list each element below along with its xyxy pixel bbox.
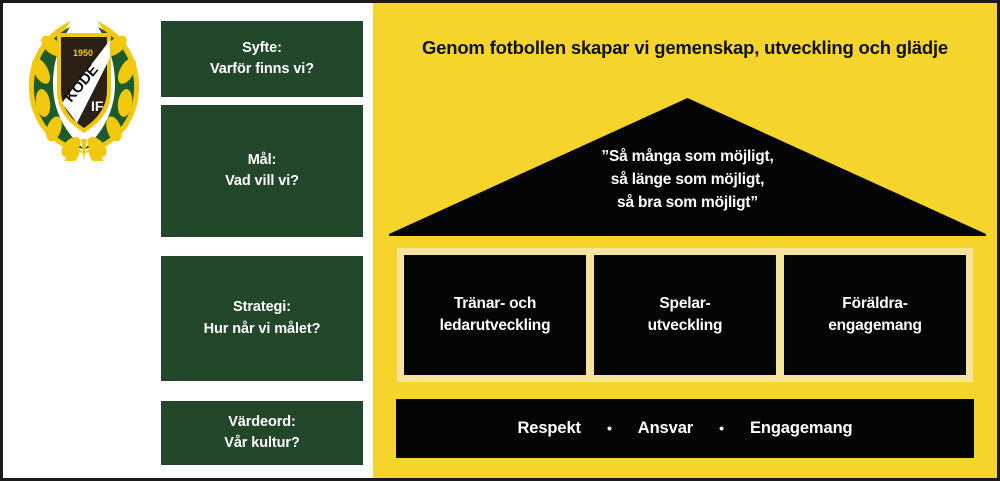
question-card-mal: Mål: Vad vill vi? — [161, 105, 363, 237]
question-card-title: Värdeord: — [228, 412, 296, 433]
question-card-title: Syfte: — [242, 38, 282, 59]
value-separator-dot-icon: • — [607, 421, 612, 435]
left-question-panel: 1950 KODE IF Syfte: Varför finns vi? Mål… — [3, 3, 373, 478]
question-card-question: Vad vill vi? — [225, 171, 299, 192]
roof-vision-text: ”Så många som möjligt, så länge som möjl… — [389, 146, 986, 215]
logo-suffix-text: IF — [91, 98, 104, 114]
house-of-values-slide: 1950 KODE IF Syfte: Varför finns vi? Mål… — [0, 0, 1000, 481]
value-ansvar: Ansvar — [638, 419, 693, 438]
house-panel: Genom fotbollen skapar vi gemenskap, utv… — [373, 3, 997, 478]
kode-if-logo: 1950 KODE IF — [19, 11, 149, 161]
roof-line-3: så bra som möjligt” — [389, 192, 986, 215]
question-card-syfte: Syfte: Varför finns vi? — [161, 21, 363, 97]
question-card-title: Mål: — [248, 150, 277, 171]
value-engagemang: Engagemang — [750, 419, 853, 438]
pillar-line-1: Spelar- — [659, 293, 710, 315]
pillar-spelarutveckling: Spelar- utveckling — [594, 255, 776, 375]
pillar-line-2: utveckling — [648, 315, 723, 337]
question-card-question: Hur når vi målet? — [204, 319, 321, 340]
question-card-strategi: Strategi: Hur når vi målet? — [161, 256, 363, 381]
question-card-vardeord: Värdeord: Vår kultur? — [161, 401, 363, 465]
foundation-values-bar: Respekt • Ansvar • Engagemang — [396, 399, 974, 458]
pillar-line-1: Tränar- och — [454, 293, 536, 315]
pillar-tranar-och-ledarutveckling: Tränar- och ledarutveckling — [404, 255, 586, 375]
question-card-question: Vår kultur? — [224, 433, 299, 454]
headline-text: Genom fotbollen skapar vi gemenskap, utv… — [373, 37, 997, 59]
pillar-line-2: ledarutveckling — [440, 315, 551, 337]
pillar-line-2: engagemang — [828, 315, 922, 337]
pillar-foraldraengagemang: Föräldra- engagemang — [784, 255, 966, 375]
value-separator-dot-icon: • — [719, 421, 724, 435]
roof-line-1: ”Så många som möjligt, — [389, 146, 986, 169]
question-card-title: Strategi: — [233, 297, 291, 318]
logo-year-text: 1950 — [73, 48, 93, 58]
roof-line-2: så länge som möjligt, — [389, 169, 986, 192]
pillar-line-1: Föräldra- — [842, 293, 907, 315]
value-respekt: Respekt — [517, 419, 581, 438]
question-card-question: Varför finns vi? — [210, 59, 314, 80]
pillars-container: Tränar- och ledarutveckling Spelar- utve… — [389, 240, 981, 390]
